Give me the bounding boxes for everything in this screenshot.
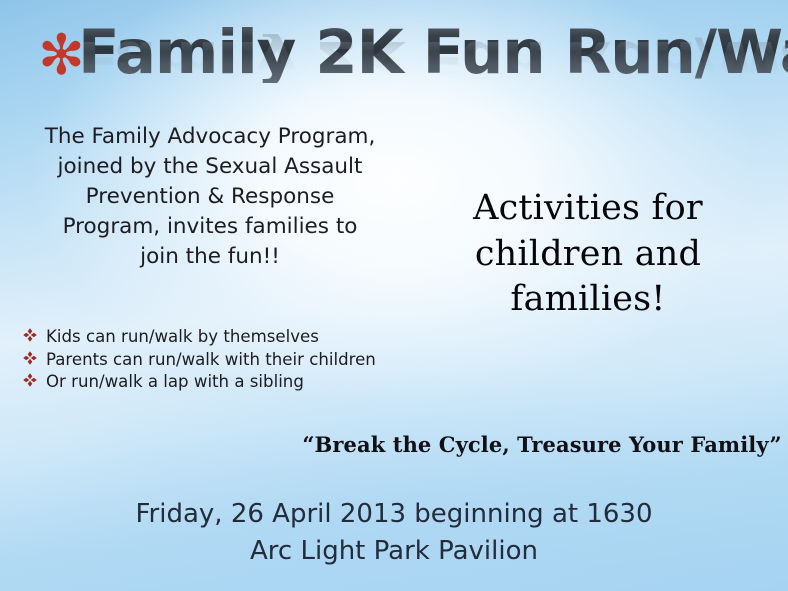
diamond-cluster-bullet-icon	[22, 327, 38, 343]
title-block: ✻ Family 2K Fun Run/Walk Family 2K Fun R…	[0, 14, 788, 118]
activities-line: Activities for	[438, 186, 738, 232]
activities-headline: Activities for children and families!	[438, 186, 738, 323]
list-item-label: Or run/walk a lap with a sibling	[46, 372, 304, 391]
list-item-label: Kids can run/walk by themselves	[46, 327, 319, 346]
intro-line: The Family Advocacy Program,	[8, 122, 412, 152]
event-details: Friday, 26 April 2013 beginning at 1630 …	[0, 496, 788, 570]
diamond-cluster-bullet-icon	[22, 350, 38, 366]
activities-line: children and	[438, 232, 738, 278]
tagline-quote: “Break the Cycle, Treasure Your Family”	[300, 432, 784, 457]
intro-paragraph: The Family Advocacy Program, joined by t…	[8, 122, 412, 272]
participation-bullet-list: Kids can run/walk by themselves Parents …	[20, 326, 400, 394]
intro-line: join the fun!!	[8, 242, 412, 272]
event-date: Friday, 26 April 2013 beginning at 1630	[0, 496, 788, 533]
list-item: Parents can run/walk with their children	[20, 349, 400, 371]
intro-line: Program, invites families to	[8, 212, 412, 242]
intro-line: Prevention & Response	[8, 182, 412, 212]
page-title: Family 2K Fun Run/Walk	[78, 22, 788, 83]
list-item: Or run/walk a lap with a sibling	[20, 371, 400, 393]
list-item: Kids can run/walk by themselves	[20, 326, 400, 348]
activities-line: families!	[438, 277, 738, 323]
flyer-slide: ✻ Family 2K Fun Run/Walk Family 2K Fun R…	[0, 0, 788, 591]
list-item-label: Parents can run/walk with their children	[46, 350, 376, 369]
diamond-cluster-bullet-icon	[22, 372, 38, 388]
event-venue: Arc Light Park Pavilion	[0, 533, 788, 570]
intro-line: joined by the Sexual Assault	[8, 152, 412, 182]
